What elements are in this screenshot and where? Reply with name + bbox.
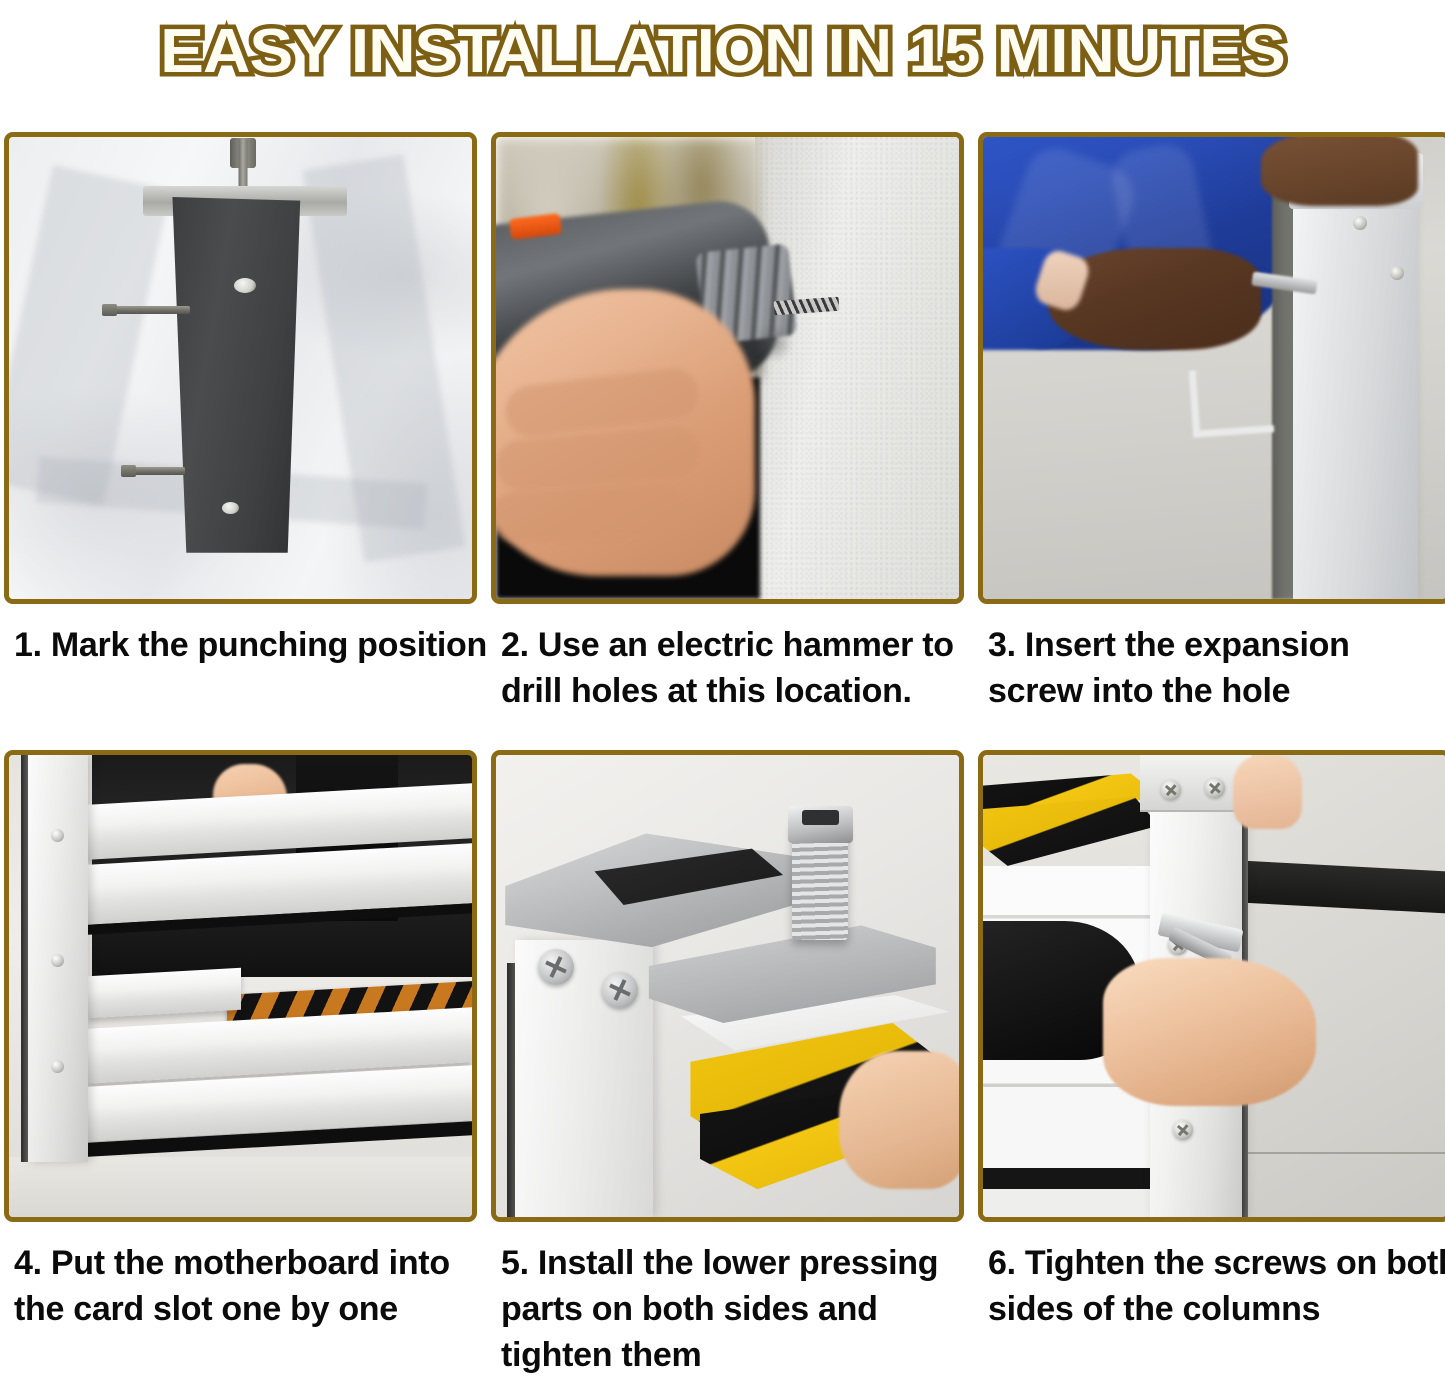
floor-edge-line xyxy=(1242,1152,1445,1154)
allen-key-on-floor xyxy=(1189,365,1275,438)
step-3-caption: 3. Insert the expansion screw into the h… xyxy=(978,604,1445,750)
caption-line: the card slot one by one xyxy=(14,1286,471,1332)
barrier-board-angled xyxy=(88,968,241,1018)
step-1-photo-frame xyxy=(4,132,477,604)
step-1-photo-cell xyxy=(4,132,477,604)
column-screw xyxy=(51,829,64,842)
installation-guide-infographic: EASY INSTALLATION IN 15 MINUTES xyxy=(0,0,1445,1352)
caption-line: drill holes at this location. xyxy=(501,668,958,714)
caption-line: screw into the hole xyxy=(988,668,1445,714)
upper-hand xyxy=(1261,137,1418,206)
caption-line: 4. Put the motherboard into xyxy=(14,1240,471,1286)
step-1-caption: 1. Mark the punching position xyxy=(4,604,477,750)
mounting-post xyxy=(164,197,303,553)
caption-line: 1. Mark the punching position xyxy=(14,622,471,668)
step-6-photo-frame xyxy=(978,750,1445,1222)
step-1-photo xyxy=(9,137,472,599)
phillips-screw xyxy=(538,949,574,985)
step-6-caption: 6. Tighten the screws on both sides of t… xyxy=(978,1222,1445,1350)
expansion-bolt-lower xyxy=(134,467,185,475)
step-6-photo xyxy=(983,755,1445,1217)
column-screw xyxy=(1353,216,1367,230)
column-screw xyxy=(51,954,64,967)
threaded-rod xyxy=(238,139,247,190)
step-2-photo-cell xyxy=(491,132,964,604)
step-3-photo-frame xyxy=(978,132,1445,604)
caption-line: 3. Insert the expansion xyxy=(988,622,1445,668)
white-wall xyxy=(755,137,959,599)
step-3-photo xyxy=(983,137,1445,599)
expansion-bolt-upper xyxy=(115,306,189,314)
step-5-photo-cell xyxy=(491,750,964,1222)
caption-line: 2. Use an electric hammer to xyxy=(501,622,958,668)
page-title: EASY INSTALLATION IN 15 MINUTES xyxy=(160,21,1285,83)
step-2-caption: 2. Use an electric hammer to drill holes… xyxy=(491,604,964,750)
step-5-photo xyxy=(496,755,959,1217)
header-banner: EASY INSTALLATION IN 15 MINUTES xyxy=(0,0,1445,104)
post-hole-lower xyxy=(222,502,239,514)
finger xyxy=(496,483,687,544)
installer-fingers xyxy=(839,1051,959,1190)
caption-line: 5. Install the lower pressing xyxy=(501,1240,958,1286)
step-4-caption: 4. Put the motherboard into the card slo… xyxy=(4,1222,477,1350)
step-4-photo-cell xyxy=(4,750,477,1222)
step-5-photo-frame xyxy=(491,750,964,1222)
installer-thumb xyxy=(1233,755,1302,829)
step-6-photo-cell xyxy=(978,750,1445,1222)
caption-line: sides of the columns xyxy=(988,1286,1445,1332)
step-4-photo-frame xyxy=(4,750,477,1222)
hex-socket-recess xyxy=(802,810,839,825)
step-3-photo-cell xyxy=(978,132,1445,604)
step-2-photo xyxy=(496,137,959,599)
step-2-photo-frame xyxy=(491,132,964,604)
step-4-photo xyxy=(9,755,472,1217)
column-screw xyxy=(51,1060,64,1073)
column-screw xyxy=(1173,1120,1193,1140)
caption-line: tighten them xyxy=(501,1332,958,1378)
caption-line: parts on both sides and xyxy=(501,1286,958,1332)
post-hole-upper xyxy=(234,278,256,293)
installer-hand xyxy=(1103,958,1316,1106)
caption-line: 6. Tighten the screws on both xyxy=(988,1240,1445,1286)
floor-surface xyxy=(9,1157,472,1217)
step-5-caption: 5. Install the lower pressing parts on b… xyxy=(491,1222,964,1350)
drill-dust xyxy=(755,322,792,364)
steps-grid: 1. Mark the punching position 2. Use an … xyxy=(4,132,1441,1350)
